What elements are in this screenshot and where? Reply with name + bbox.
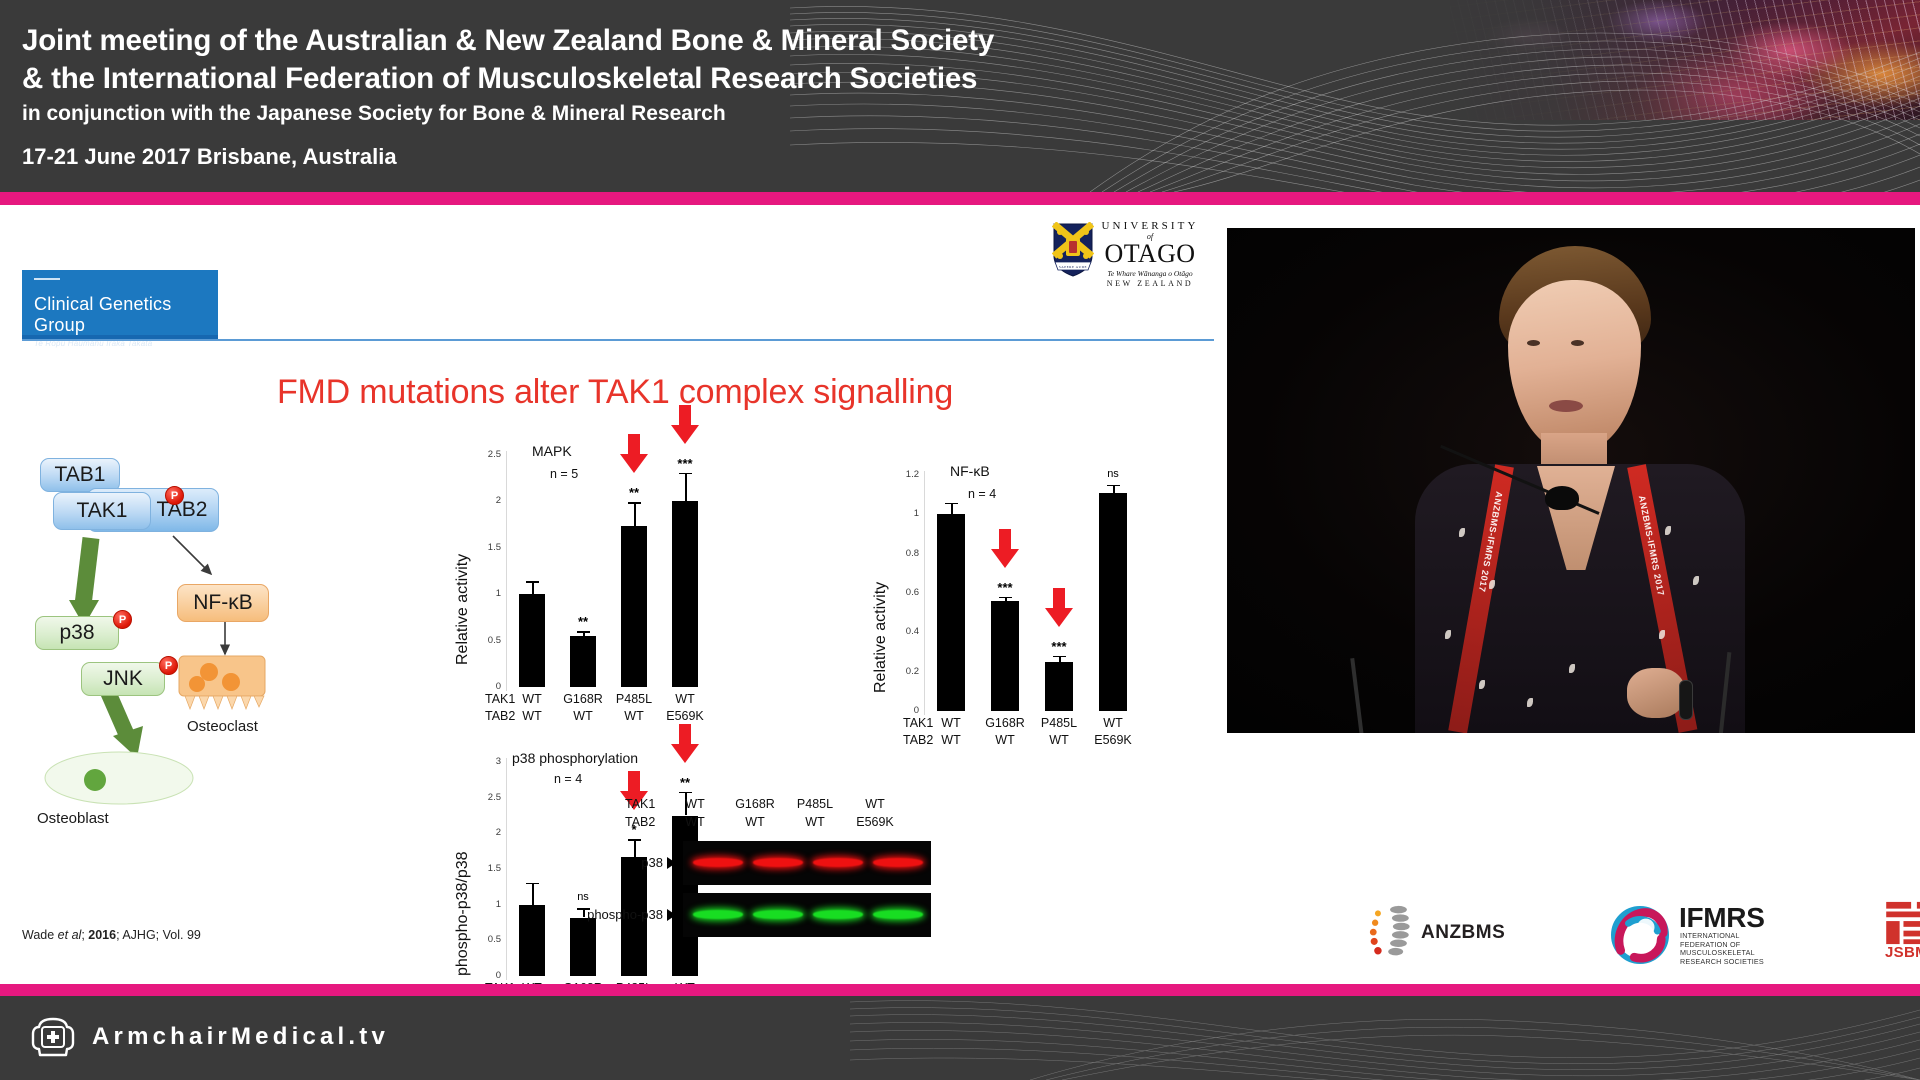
- chart-nfkb: NF-κB n = 4 Relative activity 00.20.40.6…: [866, 465, 1106, 785]
- p38-ytick: 2.5: [473, 792, 501, 803]
- mapk-significance: **: [611, 485, 657, 500]
- nfkb-xlabel-top: WT: [1085, 716, 1141, 730]
- p38-highlight-arrow-icon: [670, 724, 700, 764]
- mapk-ytick: 0: [473, 681, 501, 692]
- nfkb-chart-title: NF-κB: [950, 463, 990, 479]
- nfkb-ytick: 1: [891, 508, 919, 519]
- mapk-error-bar: [532, 581, 534, 594]
- blot-row-label-tab2: TAB2: [625, 815, 655, 829]
- p38-sample-size: n = 4: [554, 772, 582, 786]
- otago-name-label: OTAGO: [1100, 241, 1200, 267]
- otago-university-label: UNIVERSITY: [1100, 220, 1200, 232]
- node-label-jnk: JNK: [103, 667, 143, 691]
- mapk-error-bar: [634, 502, 636, 526]
- nfkb-error-cap: [999, 597, 1012, 599]
- p38-y-axis: [506, 758, 507, 980]
- mapk-y-axis-label: Relative activity: [454, 554, 472, 665]
- mapk-xlabel-top: P485L: [607, 692, 661, 706]
- slide-title: FMD mutations alter TAK1 complex signall…: [0, 373, 1230, 412]
- cgg-logo-title: Clinical Genetics Group: [34, 294, 206, 336]
- blot-header-top: G168R: [727, 797, 783, 811]
- p38-bar: [519, 905, 545, 976]
- speaker-video-panel[interactable]: ANZBMS-IFMRS 2017 ANZBMS-IFMRS 2017: [1227, 228, 1915, 733]
- mapk-bar: [570, 636, 596, 687]
- speaker-hand: [1627, 668, 1685, 718]
- node-label-tak1: TAK1: [77, 499, 128, 523]
- sponsor-logo-jsbmr: JSBMR: [1883, 900, 1920, 970]
- nfkb-y-axis: [924, 471, 925, 715]
- mapk-xlabel-top: WT: [658, 692, 712, 706]
- mapk-ytick: 1: [473, 588, 501, 599]
- blot-header-bottom: WT: [787, 815, 843, 829]
- mapk-significance: **: [560, 614, 606, 629]
- blot-pointer-icon: [667, 909, 676, 921]
- node-label-tab2: TAB2: [157, 498, 208, 522]
- nfkb-highlight-arrow-icon: [990, 529, 1020, 569]
- screenshot-root: Joint meeting of the Australian & New Ze…: [0, 0, 1920, 1080]
- mapk-error-cap: [679, 473, 692, 475]
- mapk-highlight-arrow-icon: [619, 434, 649, 474]
- slide-citation: Wade et al; 2016; AJHG; Vol. 99: [22, 928, 201, 942]
- mapk-ytick: 2.5: [473, 449, 501, 460]
- header-dates-location: 17-21 June 2017 Brisbane, Australia: [22, 142, 994, 172]
- nfkb-row-label: TAK1: [903, 716, 933, 730]
- anzbms-spine-icon: [1363, 904, 1419, 962]
- nfkb-significance: ***: [1035, 639, 1083, 654]
- p38-error-cap: [679, 792, 692, 794]
- jsbmr-mark-icon: [1883, 900, 1920, 946]
- ifmrs-tagline: INTERNATIONAL FEDERATION OF MUSCULOSKELE…: [1680, 932, 1764, 966]
- pathway-node-p38: p38: [35, 616, 119, 650]
- ifmrs-tagline-line4: RESEARCH SOCIETIES: [1680, 958, 1764, 967]
- mapk-bar: [672, 501, 698, 687]
- blot-header-bottom: E569K: [847, 815, 903, 829]
- university-of-otago-logo: SAPERE AUDE UNIVERSITY of OTAGO Te Whare…: [1052, 220, 1202, 284]
- blot-band: [753, 910, 803, 919]
- speaker-eye-right: [1571, 340, 1584, 346]
- p38-ytick: 0.5: [473, 934, 501, 945]
- p38-significance: **: [662, 775, 708, 790]
- tak1-signalling-pathway-diagram: TAB1 TAB2 TAK1 P: [25, 450, 325, 850]
- mapk-significance: ***: [662, 456, 708, 471]
- blot-header-top: WT: [847, 797, 903, 811]
- nfkb-ytick: 0.4: [891, 626, 919, 637]
- otago-wordmark: UNIVERSITY of OTAGO Te Whare Wānanga o O…: [1100, 220, 1200, 288]
- citation-year: 2016: [88, 928, 116, 942]
- speaker-mouth: [1549, 400, 1583, 412]
- header-line-1: Joint meeting of the Australian & New Ze…: [22, 22, 994, 60]
- mapk-bar: [519, 594, 545, 687]
- nfkb-xlabel-top: P485L: [1031, 716, 1087, 730]
- mapk-xlabel-top: G168R: [556, 692, 610, 706]
- osteoblast-cell-icon: [41, 750, 197, 808]
- clinical-genetics-group-logo: Clinical Genetics Group Te Rōpū Haumanu …: [22, 270, 218, 335]
- nfkb-ytick: 0.6: [891, 587, 919, 598]
- armchair-medical-logo-icon: [30, 1016, 76, 1060]
- nfkb-ytick: 0.8: [891, 548, 919, 559]
- mapk-chart-title: MAPK: [532, 443, 572, 459]
- nfkb-xlabel-bottom: WT: [977, 733, 1033, 747]
- nfkb-sample-size: n = 4: [968, 487, 996, 501]
- citation-author: Wade: [22, 928, 58, 942]
- sponsor-logo-anzbms: ANZBMS: [1363, 900, 1593, 970]
- anzbms-wordmark: ANZBMS: [1421, 922, 1505, 944]
- speaker-wristwatch: [1679, 680, 1693, 720]
- mapk-ytick: 1.5: [473, 542, 501, 553]
- nfkb-significance: ***: [981, 580, 1029, 595]
- nfkb-bar: [1045, 662, 1073, 711]
- footer-brand-label: ArmchairMedical.tv: [92, 1023, 389, 1051]
- otago-crest-icon: SAPERE AUDE: [1052, 222, 1094, 278]
- slide-header-rule: [22, 339, 1214, 341]
- p38-ytick: 1: [473, 899, 501, 910]
- blot-band: [693, 910, 743, 919]
- osteoclast-cell-icon: [175, 652, 275, 714]
- pathway-node-nfkb: NF-κB: [177, 584, 269, 622]
- nfkb-error-cap: [1053, 656, 1066, 658]
- ifmrs-wordmark: IFMRS: [1679, 902, 1765, 934]
- blot-header-top: WT: [667, 797, 723, 811]
- pathway-node-tak1: TAK1: [53, 492, 151, 530]
- mapk-bar: [621, 526, 647, 687]
- blot-row-name: p38: [565, 855, 663, 870]
- mapk-highlight-arrow-icon: [670, 405, 700, 445]
- header-line-3: in conjunction with the Japanese Society…: [22, 99, 994, 129]
- site-footer: ArmchairMedical.tv: [0, 996, 1920, 1080]
- blot-row-name: phospho-p38: [565, 907, 663, 922]
- phospho-marker-p38-icon: P: [113, 610, 132, 629]
- blot-band: [813, 910, 863, 919]
- osteoblast-label: Osteoblast: [37, 810, 109, 827]
- mapk-y-axis: [506, 451, 507, 691]
- blot-header-bottom: WT: [727, 815, 783, 829]
- magenta-divider-bottom: [0, 984, 1920, 996]
- nfkb-bar: [991, 601, 1019, 711]
- svg-text:SAPERE AUDE: SAPERE AUDE: [1059, 265, 1087, 269]
- nfkb-bar: [1099, 493, 1127, 711]
- otago-country-label: NEW ZEALAND: [1100, 279, 1200, 288]
- jsbmr-wordmark: JSBMR: [1885, 944, 1920, 961]
- header-text-block: Joint meeting of the Australian & New Ze…: [22, 22, 994, 172]
- pathway-node-jnk: JNK: [81, 662, 165, 696]
- p38-ytick: 3: [473, 756, 501, 767]
- osteoclast-label: Osteoclast: [187, 718, 258, 735]
- footer-swirl-graphic: [850, 996, 1920, 1080]
- blot-header-bottom: WT: [667, 815, 723, 829]
- p38-error-bar: [532, 883, 534, 905]
- sponsor-logo-row: ANZBMS IFMRS INTERNATIONAL FEDERATION OF…: [1363, 900, 1920, 970]
- citation-etal: et al: [58, 928, 82, 942]
- mapk-xlabel-bottom: WT: [556, 709, 610, 723]
- blot-band: [813, 858, 863, 867]
- chart-mapk: MAPK n = 5 Relative activity 00.511.522.…: [450, 447, 680, 757]
- blot-band: [873, 910, 923, 919]
- nfkb-significance: ns: [1089, 468, 1137, 480]
- blot-band: [693, 858, 743, 867]
- blot-band: [873, 858, 923, 867]
- nfkb-xlabel-top: G168R: [977, 716, 1033, 730]
- presentation-slide: Clinical Genetics Group Te Rōpū Haumanu …: [0, 205, 1230, 980]
- blot-header-top: P485L: [787, 797, 843, 811]
- header-line-2: & the International Federation of Muscul…: [22, 60, 994, 98]
- node-label-p38: p38: [59, 621, 94, 645]
- otago-maori-label: Te Whare Wānanga o Otāgo: [1100, 269, 1200, 278]
- mapk-row-label: TAB2: [485, 709, 515, 723]
- mapk-xlabel-bottom: WT: [607, 709, 661, 723]
- nfkb-xlabel-bottom: WT: [1031, 733, 1087, 747]
- p38-ytick: 2: [473, 827, 501, 838]
- nfkb-xlabel-bottom: E569K: [1085, 733, 1141, 747]
- conference-header-banner: Joint meeting of the Australian & New Ze…: [0, 0, 1920, 192]
- arrow-tak1-to-nfkb: [173, 536, 211, 574]
- nfkb-y-axis-label: Relative activity: [872, 582, 890, 693]
- mapk-sample-size: n = 5: [550, 467, 578, 481]
- mapk-error-cap: [526, 581, 539, 583]
- p38-error-cap: [526, 883, 539, 885]
- mapk-error-bar: [685, 473, 687, 502]
- p38-y-axis-label: phospho-p38/p38: [454, 851, 472, 976]
- p38-ytick: 0: [473, 970, 501, 981]
- sponsor-logo-ifmrs: IFMRS INTERNATIONAL FEDERATION OF MUSCUL…: [1611, 900, 1841, 970]
- mapk-xlabel-bottom: E569K: [658, 709, 712, 723]
- nfkb-highlight-arrow-icon: [1044, 588, 1074, 628]
- nfkb-ytick: 0: [891, 705, 919, 716]
- p38-ytick: 1.5: [473, 863, 501, 874]
- mapk-error-cap: [577, 631, 590, 633]
- speaker-eye-left: [1527, 340, 1540, 346]
- nfkb-error-bar: [951, 503, 953, 515]
- nfkb-ytick: 1.2: [891, 469, 919, 480]
- nfkb-error-cap: [1107, 485, 1120, 487]
- mapk-row-label: TAK1: [485, 692, 515, 706]
- nfkb-error-cap: [945, 503, 958, 505]
- nfkb-bar: [937, 514, 965, 711]
- mapk-ytick: 0.5: [473, 635, 501, 646]
- p38-chart-title: p38 phosphorylation: [512, 750, 638, 766]
- blot-band: [753, 858, 803, 867]
- mapk-error-cap: [628, 502, 641, 504]
- node-label-nfkb: NF-κB: [193, 591, 253, 615]
- nfkb-row-label: TAB2: [903, 733, 933, 747]
- western-blot-panel: TAK1 TAB2 WTG168RP485LWTWTWTWTE569K p38p…: [585, 795, 1005, 955]
- magenta-divider-top: [0, 192, 1920, 205]
- logo-dash: [34, 278, 60, 280]
- microphone-head: [1545, 486, 1579, 510]
- blot-row-label-tak1: TAK1: [625, 797, 655, 811]
- phospho-marker-tak1-icon: P: [165, 486, 184, 505]
- ifmrs-swirl-icon: [1611, 906, 1669, 964]
- citation-rest: ; AJHG; Vol. 99: [116, 928, 201, 942]
- nfkb-ytick: 0.2: [891, 666, 919, 677]
- arrow-tak1-to-p38: [83, 538, 91, 605]
- blot-pointer-icon: [667, 857, 676, 869]
- mapk-ytick: 2: [473, 495, 501, 506]
